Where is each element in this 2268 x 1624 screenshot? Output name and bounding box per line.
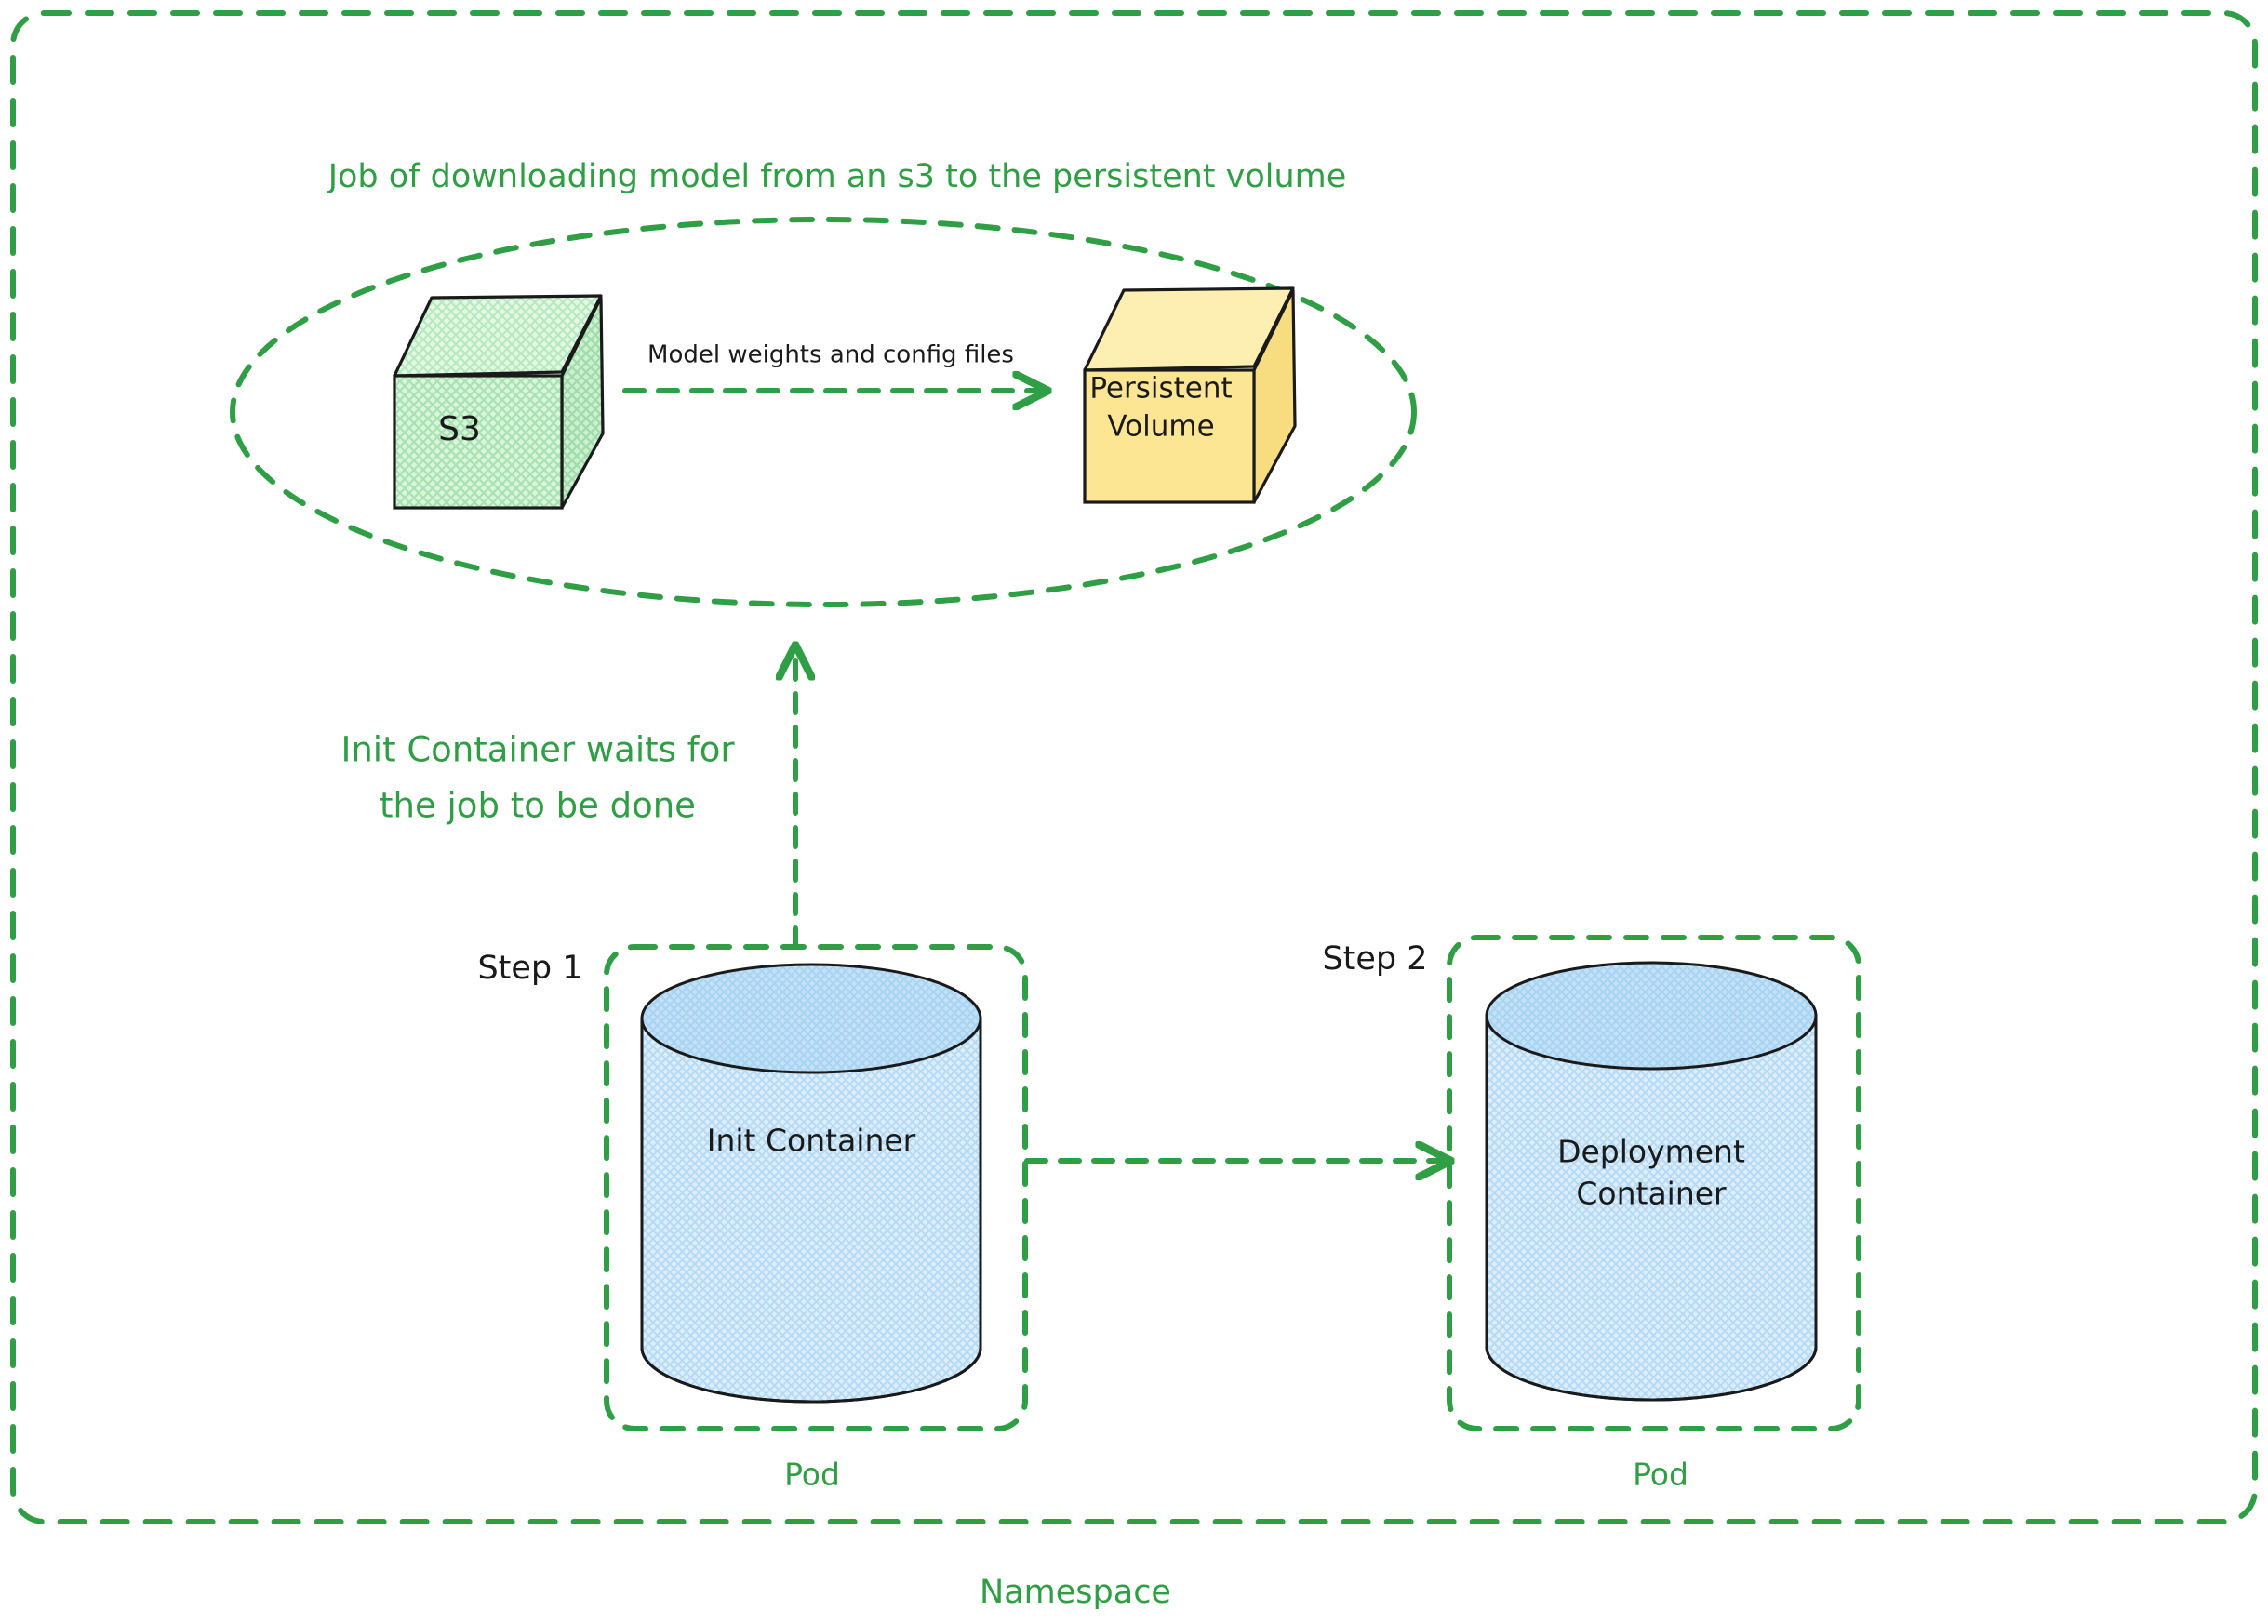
init-container-cylinder-top — [642, 965, 981, 1072]
persistent-volume-label-line1: Persistent — [1089, 372, 1232, 406]
init-container-wait-label-line1: Init Container waits for — [340, 730, 735, 770]
init-container-label-line1: Init Container — [707, 1123, 916, 1159]
pod-1-label: Pod — [784, 1457, 840, 1493]
deployment-container-cylinder[interactable]: Deployment Container — [1487, 963, 1816, 1400]
model-transfer-edge-label: Model weights and config files — [647, 341, 1014, 369]
s3-cube-label: S3 — [438, 410, 481, 448]
diagram-canvas: S3 Model weights and config files Persis… — [0, 0, 2268, 1624]
job-group-title: Job of downloading model from an s3 to t… — [327, 158, 1347, 195]
init-container-cylinder[interactable]: Init Container — [642, 965, 981, 1402]
deployment-container-label-line1: Deployment — [1557, 1134, 1745, 1170]
init-container-wait-label-line2: the job to be done — [380, 786, 696, 826]
pod-2-step-label: Step 2 — [1322, 940, 1427, 978]
pod-2-label: Pod — [1633, 1457, 1688, 1493]
pod-1-step-label: Step 1 — [477, 950, 582, 987]
model-transfer-edge: Model weights and config files — [625, 341, 1042, 392]
persistent-volume-cube[interactable]: Persistent Volume — [1085, 288, 1295, 502]
namespace-label: Namespace — [980, 1574, 1171, 1611]
deployment-container-cylinder-top — [1487, 963, 1816, 1069]
kubernetes-architecture-diagram: S3 Model weights and config files Persis… — [0, 0, 2268, 1624]
deployment-container-label-line2: Container — [1576, 1176, 1727, 1212]
persistent-volume-label-line2: Volume — [1107, 410, 1214, 444]
pod-1[interactable]: Init Container Step 1 Pod — [477, 947, 1025, 1493]
pod-2[interactable]: Deployment Container Step 2 Pod — [1322, 938, 1859, 1493]
s3-cube[interactable]: S3 — [394, 296, 603, 508]
init-container-cylinder-body — [642, 1018, 981, 1402]
init-container-wait-edge: Init Container waits for the job to be d… — [340, 651, 795, 947]
